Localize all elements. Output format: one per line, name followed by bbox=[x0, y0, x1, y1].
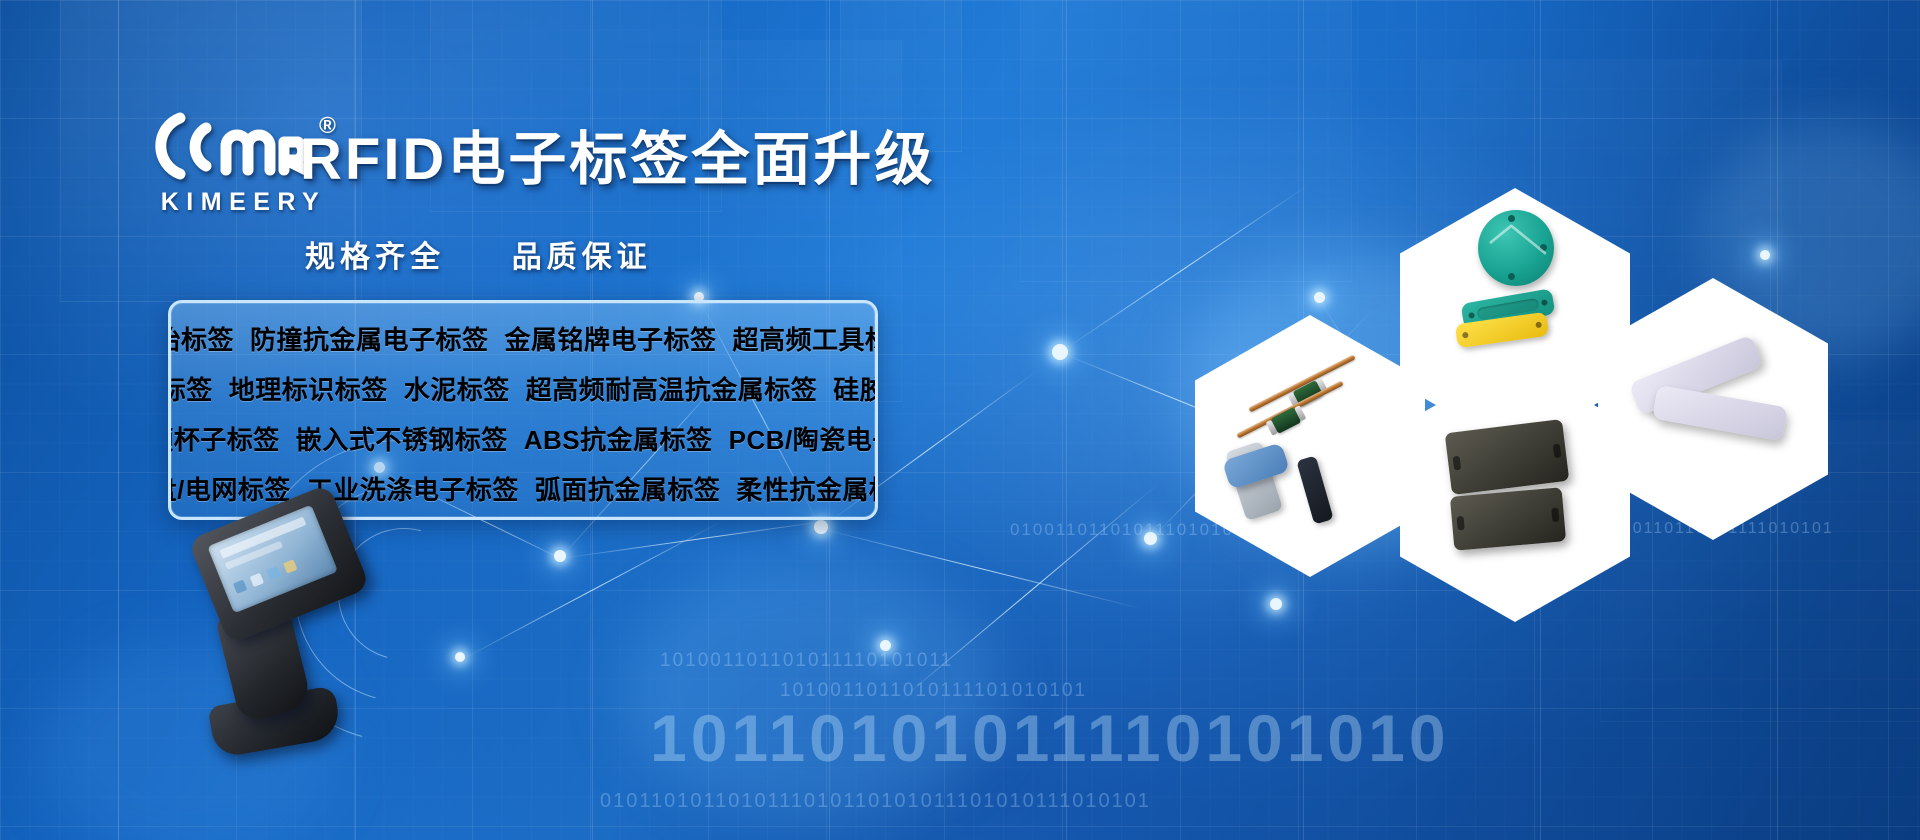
disc-tag bbox=[1478, 210, 1554, 286]
page-title: RFID电子标签全面升级 bbox=[300, 112, 935, 196]
tag-row: 轮胎标签 防撞抗金属电子标签 金属铭牌电子标签 超高频工具标签 bbox=[171, 313, 875, 363]
anti-metal-block-tag bbox=[1450, 487, 1566, 551]
flexible-strap-tag bbox=[1652, 385, 1788, 441]
tag-item: 硅胶腕带 bbox=[825, 370, 878, 407]
tag-item: 柔性抗金属标签 bbox=[728, 470, 878, 507]
reader-screen bbox=[207, 505, 338, 614]
anti-metal-block-tag bbox=[1445, 419, 1570, 495]
tag-item: 金属铭牌电子标签 bbox=[497, 320, 725, 357]
tag-item: 地理标识标签 bbox=[221, 370, 396, 407]
tag-item: ABS抗金属标签 bbox=[516, 420, 721, 457]
dark-bar-tag bbox=[1296, 456, 1333, 525]
rfid-product-banner: 01001101101011101010 1010011011010111101… bbox=[0, 0, 1920, 840]
tag-item: 防撞抗金属电子标签 bbox=[242, 320, 497, 357]
tag-item: 超高频工具标签 bbox=[725, 320, 878, 357]
subtitle-left: 规格齐全 bbox=[305, 241, 445, 274]
tag-item: 超高频耐高温抗金属标签 bbox=[518, 370, 826, 407]
tag-item: 嵌入式不锈钢标签 bbox=[288, 420, 516, 457]
subtitle-right: 品质保证 bbox=[512, 241, 652, 274]
tag-row: 超高频杯子标签 嵌入式不锈钢标签 ABS抗金属标签 PCB/陶瓷电子标签 bbox=[171, 413, 875, 463]
reader-body bbox=[188, 484, 371, 645]
rod-tag-chip bbox=[1271, 407, 1302, 434]
tag-row: 螺丝标签 地理标识标签 水泥标签 超高频耐高温抗金属标签 硅胶腕带 bbox=[171, 363, 875, 413]
handheld-rfid-reader bbox=[175, 490, 405, 820]
tag-item: 水泥标签 bbox=[396, 370, 518, 407]
tag-item: 超高频杯子标签 bbox=[168, 420, 288, 457]
binary-text-1: 01001101101011101010 bbox=[1010, 520, 1234, 540]
product-tag-list: 轮胎标签 防撞抗金属电子标签 金属铭牌电子标签 超高频工具标签 螺丝标签 地理标… bbox=[168, 300, 878, 520]
tag-item: 螺丝标签 bbox=[168, 370, 221, 407]
tag-item: 弧面抗金属标签 bbox=[527, 470, 729, 507]
binary-text-bottom: 0101101011010111010110101011101010111010… bbox=[600, 790, 1151, 813]
tag-item: 轮胎标签 bbox=[168, 320, 242, 357]
binary-text-2: 101001101101011110101011 bbox=[660, 650, 953, 672]
binary-text-large: 10110101011110101010 bbox=[650, 700, 1450, 776]
binary-text-3: 1010011011010111101010101 bbox=[780, 680, 1087, 702]
tag-item: PCB/陶瓷电子标签 bbox=[721, 420, 878, 457]
subtitle: 规格齐全 品质保证 bbox=[305, 232, 652, 276]
